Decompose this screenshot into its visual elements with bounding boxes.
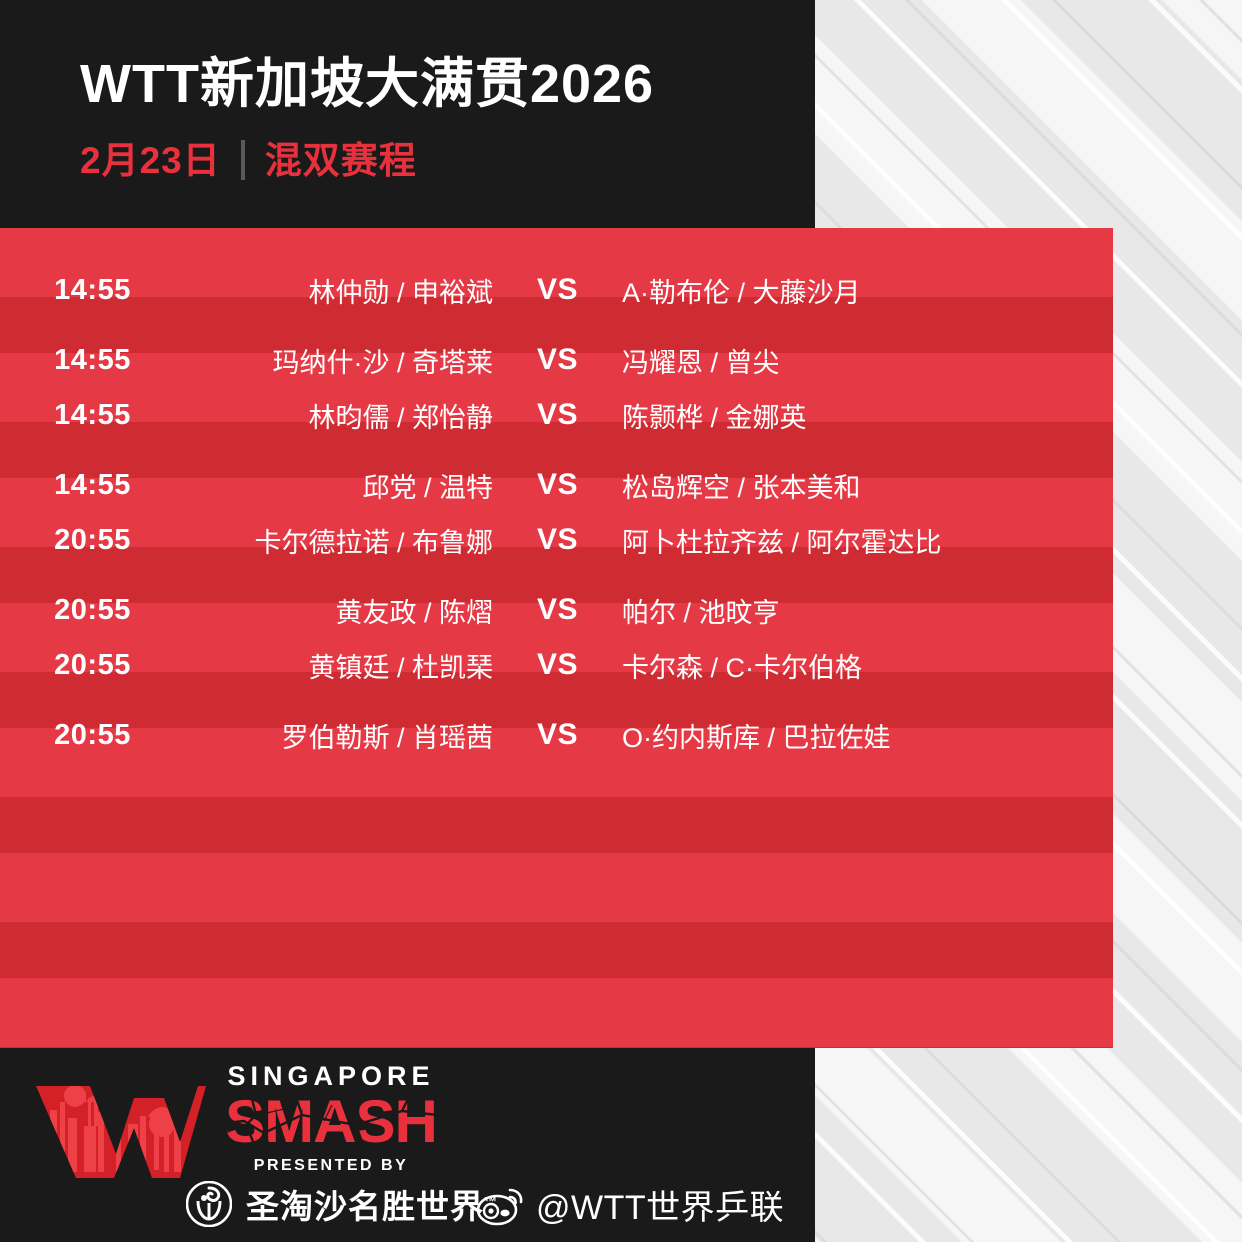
match-vs-label: VS xyxy=(515,398,600,432)
match-team-right: O·约内斯库 / 巴拉佐娃 xyxy=(600,716,1113,755)
subtitle-separator xyxy=(241,140,245,180)
match-team-left: 玛纳什·沙 / 奇塔莱 xyxy=(185,341,515,380)
match-row: 20:55卡尔德拉诺 / 布鲁娜VS阿卜杜拉齐兹 / 阿尔霍达比 xyxy=(0,505,1113,575)
header-banner: WTT新加坡大满贯2026 2月23日 混双赛程 xyxy=(0,0,815,228)
poster-canvas: WTT新加坡大满贯2026 2月23日 混双赛程 14:55林仲勋 / 申裕斌V… xyxy=(0,0,1242,1242)
match-team-left: 林仲勋 / 申裕斌 xyxy=(185,271,515,310)
match-team-right: 阿卜杜拉齐兹 / 阿尔霍达比 xyxy=(600,521,1113,560)
match-team-left: 罗伯勒斯 / 肖瑶茜 xyxy=(185,716,515,755)
resorts-world-sentosa-logo-icon xyxy=(186,1181,232,1227)
match-team-right: A·勒布伦 / 大藤沙月 xyxy=(600,271,1113,310)
match-vs-label: VS xyxy=(515,718,600,752)
match-team-right: 卡尔森 / C·卡尔伯格 xyxy=(600,646,1113,685)
match-vs-label: VS xyxy=(515,593,600,627)
match-team-left: 邱党 / 温特 xyxy=(185,466,515,505)
singapore-smash-w-logo-icon xyxy=(28,1068,208,1186)
match-vs-label: VS xyxy=(515,523,600,557)
sponsor-name-text: 圣淘沙名胜世界 xyxy=(246,1188,484,1225)
match-team-left: 黄友政 / 陈熠 xyxy=(185,591,515,630)
schedule-date: 2月23日 xyxy=(80,142,221,179)
match-time: 20:55 xyxy=(0,719,185,752)
match-vs-label: VS xyxy=(515,273,600,307)
smash-singapore-text: SINGAPORE xyxy=(206,1062,456,1090)
match-row: 20:55黄镇廷 / 杜凯琹VS卡尔森 / C·卡尔伯格 xyxy=(0,630,1113,700)
weibo-icon xyxy=(476,1184,526,1226)
match-team-right: 冯耀恩 / 曾尖 xyxy=(600,341,1113,380)
match-row: 14:55林昀儒 / 郑怡静VS陈颢桦 / 金娜英 xyxy=(0,380,1113,450)
match-time: 14:55 xyxy=(0,274,185,307)
match-team-left: 卡尔德拉诺 / 布鲁娜 xyxy=(185,521,515,560)
match-vs-label: VS xyxy=(515,648,600,682)
event-category: 混双赛程 xyxy=(265,142,417,179)
weibo-handle: @WTT世界乒联 xyxy=(536,1180,784,1229)
page-title: WTT新加坡大满贯2026 xyxy=(80,57,654,111)
match-team-right: 松岛辉空 / 张本美和 xyxy=(600,466,1113,505)
sponsor-name: 圣淘沙名胜世界™ xyxy=(246,1180,498,1228)
match-team-right: 帕尔 / 池旼亨 xyxy=(600,591,1113,630)
match-team-right: 陈颢桦 / 金娜英 xyxy=(600,396,1113,435)
smash-main-text: SMASH xyxy=(206,1091,456,1153)
weibo-lockup[interactable]: @WTT世界乒联 xyxy=(476,1180,784,1229)
sponsor-lockup: 圣淘沙名胜世界™ xyxy=(186,1180,498,1228)
match-vs-label: VS xyxy=(515,343,600,377)
match-time: 20:55 xyxy=(0,594,185,627)
match-team-left: 林昀儒 / 郑怡静 xyxy=(185,396,515,435)
smash-main-text-wrapper: SMASH xyxy=(206,1091,456,1153)
match-time: 20:55 xyxy=(0,524,185,557)
match-time: 20:55 xyxy=(0,649,185,682)
singapore-smash-wordmark: SINGAPORE SMASH PRESENTED BY xyxy=(206,1062,456,1175)
match-row: 20:55罗伯勒斯 / 肖瑶茜VSO·约内斯库 / 巴拉佐娃 xyxy=(0,700,1113,770)
match-vs-label: VS xyxy=(515,468,600,502)
match-time: 14:55 xyxy=(0,344,185,377)
match-list: 14:55林仲勋 / 申裕斌VSA·勒布伦 / 大藤沙月14:55玛纳什·沙 /… xyxy=(0,228,1113,1048)
schedule-panel: 14:55林仲勋 / 申裕斌VSA·勒布伦 / 大藤沙月14:55玛纳什·沙 /… xyxy=(0,228,1113,1048)
match-row: 14:55林仲勋 / 申裕斌VSA·勒布伦 / 大藤沙月 xyxy=(0,255,1113,325)
presented-by-label: PRESENTED BY xyxy=(206,1157,456,1175)
subtitle-row: 2月23日 混双赛程 xyxy=(80,140,417,180)
match-time: 14:55 xyxy=(0,399,185,432)
match-time: 14:55 xyxy=(0,469,185,502)
match-team-left: 黄镇廷 / 杜凯琹 xyxy=(185,646,515,685)
